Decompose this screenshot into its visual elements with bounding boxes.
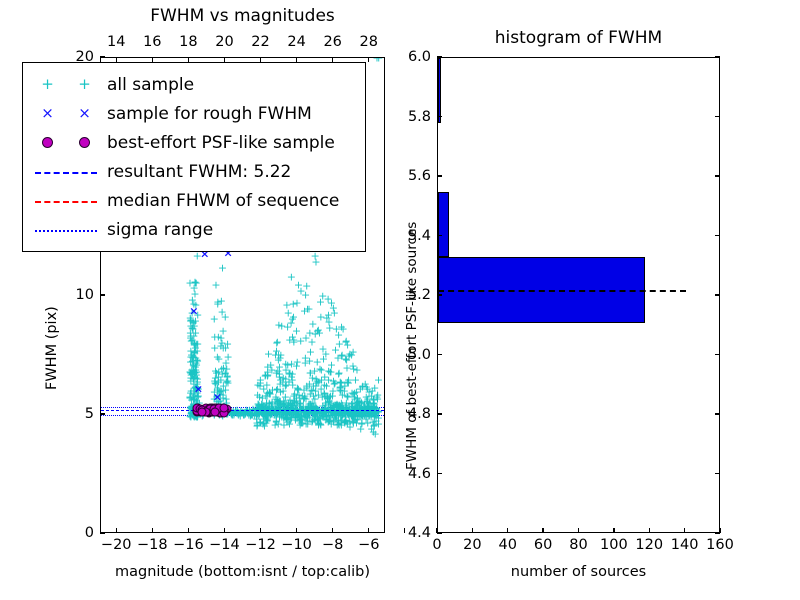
scatter-point-all-sample: + bbox=[188, 334, 197, 345]
scatter-point-psf-like bbox=[214, 404, 223, 413]
x-ticklabel-top: 16 bbox=[143, 34, 161, 50]
scatter-point-all-sample: + bbox=[190, 289, 199, 300]
scatter-point-all-sample: + bbox=[370, 407, 379, 418]
scatter-point-all-sample: + bbox=[219, 325, 228, 336]
scatter-point-all-sample: + bbox=[365, 407, 374, 418]
scatter-point-all-sample: + bbox=[218, 390, 227, 401]
scatter-point-all-sample: + bbox=[266, 407, 275, 418]
scatter-point-all-sample: + bbox=[217, 307, 226, 318]
scatter-point-all-sample: + bbox=[299, 394, 308, 405]
circle-marker-icon bbox=[79, 137, 90, 148]
scatter-point-all-sample: + bbox=[333, 399, 342, 410]
scatter-point-all-sample: + bbox=[187, 394, 196, 405]
scatter-point-all-sample: + bbox=[185, 366, 194, 377]
scatter-point-all-sample: + bbox=[310, 414, 319, 425]
scatter-point-all-sample: + bbox=[363, 402, 372, 413]
scatter-point-all-sample: + bbox=[261, 371, 270, 382]
scatter-point-all-sample: + bbox=[281, 374, 290, 385]
scatter-point-all-sample: + bbox=[329, 376, 338, 387]
scatter-point-all-sample: + bbox=[263, 361, 272, 372]
scatter-point-all-sample: + bbox=[304, 304, 313, 315]
scatter-point-all-sample: + bbox=[373, 393, 382, 404]
scatter-point-all-sample: + bbox=[311, 256, 320, 267]
hist-y-ticklabel: 5.4 bbox=[389, 228, 431, 244]
x-tick-bottom bbox=[260, 528, 261, 533]
scatter-point-all-sample: + bbox=[228, 407, 237, 418]
scatter-point-all-sample: + bbox=[282, 414, 291, 425]
scatter-point-all-sample: + bbox=[352, 407, 361, 418]
scatter-point-all-sample: + bbox=[189, 359, 198, 370]
scatter-point-all-sample: + bbox=[332, 407, 341, 418]
scatter-point-all-sample: + bbox=[256, 403, 265, 414]
scatter-point-all-sample: + bbox=[185, 278, 194, 289]
scatter-point-all-sample: + bbox=[303, 304, 312, 315]
scatter-point-all-sample: + bbox=[342, 355, 351, 366]
scatter-point-all-sample: + bbox=[310, 394, 319, 405]
scatter-point-all-sample: + bbox=[194, 383, 203, 394]
scatter-point-all-sample: + bbox=[305, 411, 314, 422]
scatter-point-all-sample: + bbox=[230, 407, 239, 418]
scatter-point-all-sample: + bbox=[334, 369, 343, 380]
scatter-point-all-sample: + bbox=[190, 367, 199, 378]
scatter-point-all-sample: + bbox=[288, 368, 297, 379]
scatter-point-all-sample: + bbox=[214, 332, 223, 343]
scatter-point-all-sample: + bbox=[256, 378, 265, 389]
x-ticklabel-bottom: −18 bbox=[137, 537, 168, 553]
scatter-point-all-sample: + bbox=[337, 351, 346, 362]
scatter-point-all-sample: + bbox=[347, 399, 356, 410]
scatter-point-all-sample: + bbox=[283, 360, 292, 371]
scatter-point-all-sample: + bbox=[326, 390, 335, 401]
scatter-point-all-sample: + bbox=[344, 351, 353, 362]
scatter-point-all-sample: + bbox=[192, 354, 201, 365]
scatter-point-all-sample: + bbox=[253, 420, 262, 431]
scatter-point-all-sample: + bbox=[361, 406, 370, 417]
scatter-point-all-sample: + bbox=[316, 419, 325, 430]
scatter-point-all-sample: + bbox=[219, 343, 228, 354]
scatter-point-all-sample: + bbox=[281, 381, 290, 392]
scatter-point-all-sample: + bbox=[319, 387, 328, 398]
scatter-point-all-sample: + bbox=[340, 417, 349, 428]
scatter-point-all-sample: + bbox=[193, 411, 202, 422]
scatter-point-all-sample: + bbox=[190, 372, 199, 383]
scatter-point-all-sample: + bbox=[220, 407, 229, 418]
left-panel-title: FWHM vs magnitudes bbox=[100, 6, 385, 26]
scatter-point-all-sample: + bbox=[343, 407, 352, 418]
scatter-point-all-sample: + bbox=[324, 407, 333, 418]
legend-handle: ++ bbox=[29, 75, 103, 95]
scatter-point-all-sample: + bbox=[276, 399, 285, 410]
scatter-point-all-sample: + bbox=[295, 416, 304, 427]
scatter-point-all-sample: + bbox=[216, 388, 225, 399]
x-tick-bottom bbox=[368, 528, 369, 533]
scatter-point-all-sample: + bbox=[291, 415, 300, 426]
scatter-point-all-sample: + bbox=[325, 414, 334, 425]
y-tick-left bbox=[100, 56, 105, 57]
hist-y-tick bbox=[437, 413, 442, 414]
scatter-point-all-sample: + bbox=[275, 411, 284, 422]
scatter-point-all-sample: + bbox=[333, 407, 342, 418]
scatter-point-all-sample: + bbox=[254, 398, 263, 409]
scatter-point-all-sample: + bbox=[191, 300, 200, 311]
scatter-point-all-sample: + bbox=[266, 407, 275, 418]
scatter-point-all-sample: + bbox=[371, 410, 380, 421]
scatter-point-all-sample: + bbox=[189, 394, 198, 405]
scatter-point-all-sample: + bbox=[363, 383, 372, 394]
scatter-point-all-sample: + bbox=[364, 407, 373, 418]
scatter-point-all-sample: + bbox=[340, 381, 349, 392]
scatter-point-all-sample: + bbox=[293, 356, 302, 367]
scatter-point-all-sample: + bbox=[186, 402, 195, 413]
scatter-point-all-sample: + bbox=[192, 411, 201, 422]
scatter-point-all-sample: + bbox=[327, 406, 336, 417]
scatter-point-all-sample: + bbox=[193, 356, 202, 367]
scatter-point-all-sample: + bbox=[350, 388, 359, 399]
scatter-point-all-sample: + bbox=[287, 399, 296, 410]
scatter-point-all-sample: + bbox=[186, 346, 195, 357]
scatter-point-all-sample: + bbox=[212, 407, 221, 418]
scatter-point-all-sample: + bbox=[307, 417, 316, 428]
scatter-point-all-sample: + bbox=[349, 411, 358, 422]
scatter-point-all-sample: + bbox=[307, 407, 316, 418]
scatter-point-all-sample: + bbox=[334, 416, 343, 427]
scatter-point-all-sample: + bbox=[211, 279, 220, 290]
scatter-point-all-sample: + bbox=[192, 411, 201, 422]
scatter-point-all-sample: + bbox=[325, 415, 334, 426]
scatter-point-all-sample: + bbox=[221, 393, 230, 404]
scatter-point-all-sample: + bbox=[245, 406, 254, 417]
scatter-point-all-sample: + bbox=[302, 412, 311, 423]
scatter-point-all-sample: + bbox=[213, 385, 222, 396]
scatter-point-all-sample: + bbox=[363, 393, 372, 404]
scatter-point-all-sample: + bbox=[261, 370, 270, 381]
scatter-point-all-sample: + bbox=[198, 410, 207, 421]
sigma-range-upper-line bbox=[101, 407, 384, 408]
scatter-point-all-sample: + bbox=[263, 367, 272, 378]
scatter-point-all-sample: + bbox=[323, 394, 332, 405]
hist-y-ticklabel: 5.2 bbox=[389, 287, 431, 303]
scatter-point-psf-like bbox=[201, 404, 210, 413]
scatter-point-all-sample: + bbox=[191, 381, 200, 392]
scatter-point-all-sample: + bbox=[304, 399, 313, 410]
scatter-point-all-sample: + bbox=[313, 357, 322, 368]
scatter-point-all-sample: + bbox=[336, 411, 345, 422]
hist-x-tick bbox=[613, 528, 614, 533]
scatter-point-all-sample: + bbox=[190, 321, 199, 332]
scatter-point-all-sample: + bbox=[282, 406, 291, 417]
scatter-point-all-sample: + bbox=[193, 376, 202, 387]
scatter-point-all-sample: + bbox=[334, 402, 343, 413]
scatter-point-all-sample: + bbox=[286, 414, 295, 425]
scatter-point-all-sample: + bbox=[197, 403, 206, 414]
scatter-point-all-sample: + bbox=[363, 396, 372, 407]
scatter-point-all-sample: + bbox=[192, 379, 201, 390]
scatter-point-all-sample: + bbox=[271, 419, 280, 430]
scatter-point-all-sample: + bbox=[252, 418, 261, 429]
scatter-point-all-sample: + bbox=[316, 311, 325, 322]
scatter-point-all-sample: + bbox=[222, 406, 231, 417]
scatter-point-all-sample: + bbox=[298, 391, 307, 402]
scatter-point-all-sample: + bbox=[297, 417, 306, 428]
hist-x-tick bbox=[542, 528, 543, 533]
scatter-point-all-sample: + bbox=[318, 291, 327, 302]
scatter-point-all-sample: + bbox=[263, 391, 272, 402]
scatter-point-all-sample: + bbox=[322, 411, 331, 422]
scatter-point-all-sample: + bbox=[316, 418, 325, 429]
scatter-point-all-sample: + bbox=[189, 337, 198, 348]
scatter-point-all-sample: + bbox=[190, 410, 199, 421]
scatter-point-all-sample: + bbox=[343, 376, 352, 387]
scatter-point-all-sample: + bbox=[191, 352, 200, 363]
scatter-point-all-sample: + bbox=[216, 375, 225, 386]
scatter-point-all-sample: + bbox=[297, 411, 306, 422]
scatter-point-all-sample: + bbox=[370, 383, 379, 394]
scatter-point-all-sample: + bbox=[300, 390, 309, 401]
scatter-point-all-sample: + bbox=[369, 399, 378, 410]
scatter-point-all-sample: + bbox=[372, 58, 381, 64]
scatter-point-all-sample: + bbox=[185, 411, 194, 422]
scatter-point-all-sample: + bbox=[276, 386, 285, 397]
scatter-point-all-sample: + bbox=[222, 363, 231, 374]
scatter-point-all-sample: + bbox=[311, 329, 320, 340]
scatter-point-all-sample: + bbox=[204, 406, 213, 417]
histogram-plot-area bbox=[438, 58, 719, 532]
scatter-point-all-sample: + bbox=[294, 384, 303, 395]
x-ticklabel-bottom: −16 bbox=[173, 537, 204, 553]
scatter-point-all-sample: + bbox=[292, 325, 301, 336]
x-ticklabel-top: 26 bbox=[323, 34, 341, 50]
hist-x-ticklabel: 140 bbox=[671, 537, 699, 553]
scatter-point-all-sample: + bbox=[289, 312, 298, 323]
scatter-point-all-sample: + bbox=[278, 399, 287, 410]
scatter-point-all-sample: + bbox=[190, 346, 199, 357]
scatter-point-psf-like bbox=[210, 404, 219, 413]
scatter-point-all-sample: + bbox=[355, 395, 364, 406]
hist-x-ticklabel: 120 bbox=[635, 537, 663, 553]
scatter-point-all-sample: + bbox=[212, 391, 221, 402]
scatter-point-all-sample: + bbox=[314, 419, 323, 430]
circle-marker-icon bbox=[42, 137, 53, 148]
scatter-point-all-sample: + bbox=[256, 417, 265, 428]
scatter-point-all-sample: + bbox=[341, 415, 350, 426]
hist-y-tick-right bbox=[715, 413, 720, 414]
scatter-point-all-sample: + bbox=[356, 384, 365, 395]
scatter-point-psf-like bbox=[206, 404, 215, 413]
scatter-point-all-sample: + bbox=[345, 416, 354, 427]
scatter-point-all-sample: + bbox=[307, 336, 316, 347]
scatter-point-all-sample: + bbox=[362, 392, 371, 403]
scatter-point-all-sample: + bbox=[341, 414, 350, 425]
histogram-bar bbox=[438, 58, 441, 123]
scatter-point-all-sample: + bbox=[188, 317, 197, 328]
scatter-point-all-sample: + bbox=[371, 429, 380, 440]
scatter-point-all-sample: + bbox=[261, 403, 270, 414]
scatter-point-all-sample: + bbox=[222, 377, 231, 388]
scatter-point-all-sample: + bbox=[285, 367, 294, 378]
scatter-point-all-sample: + bbox=[313, 415, 322, 426]
scatter-point-all-sample: + bbox=[193, 403, 202, 414]
scatter-point-all-sample: + bbox=[192, 360, 201, 371]
dashed-line-icon bbox=[35, 201, 97, 203]
scatter-point-all-sample: + bbox=[364, 410, 373, 421]
scatter-point-all-sample: + bbox=[360, 403, 369, 414]
scatter-point-all-sample: + bbox=[190, 345, 199, 356]
x-ticklabel-bottom: −20 bbox=[101, 537, 132, 553]
scatter-point-all-sample: + bbox=[344, 377, 353, 388]
scatter-point-all-sample: + bbox=[189, 411, 198, 422]
scatter-point-all-sample: + bbox=[271, 392, 280, 403]
scatter-point-all-sample: + bbox=[193, 346, 202, 357]
scatter-point-all-sample: + bbox=[188, 368, 197, 379]
scatter-point-all-sample: + bbox=[330, 406, 339, 417]
scatter-point-all-sample: + bbox=[332, 403, 341, 414]
scatter-point-all-sample: + bbox=[363, 418, 372, 429]
scatter-point-all-sample: + bbox=[217, 407, 226, 418]
scatter-point-all-sample: + bbox=[337, 403, 346, 414]
scatter-point-all-sample: + bbox=[265, 386, 274, 397]
scatter-point-all-sample: + bbox=[334, 418, 343, 429]
scatter-point-all-sample: + bbox=[332, 399, 341, 410]
scatter-point-all-sample: + bbox=[300, 407, 309, 418]
scatter-point-all-sample: + bbox=[345, 348, 354, 359]
scatter-point-all-sample: + bbox=[335, 384, 344, 395]
scatter-point-all-sample: + bbox=[210, 387, 219, 398]
scatter-point-all-sample: + bbox=[268, 406, 277, 417]
scatter-point-all-sample: + bbox=[281, 392, 290, 403]
scatter-point-all-sample: + bbox=[275, 368, 284, 379]
scatter-point-all-sample: + bbox=[186, 331, 195, 342]
scatter-point-all-sample: + bbox=[328, 385, 337, 396]
scatter-point-all-sample: + bbox=[295, 393, 304, 404]
cross-marker-icon: × bbox=[41, 106, 54, 121]
scatter-point-all-sample: + bbox=[369, 426, 378, 437]
scatter-point-all-sample: + bbox=[324, 407, 333, 418]
scatter-point-all-sample: + bbox=[189, 299, 198, 310]
scatter-point-all-sample: + bbox=[289, 391, 298, 402]
scatter-point-all-sample: + bbox=[337, 410, 346, 421]
scatter-point-all-sample: + bbox=[187, 402, 196, 413]
scatter-point-all-sample: + bbox=[273, 366, 282, 377]
x-tick-bottom bbox=[224, 528, 225, 533]
hist-x-tick bbox=[649, 528, 650, 533]
scatter-point-all-sample: + bbox=[284, 308, 293, 319]
hist-x-tick bbox=[684, 528, 685, 533]
scatter-point-rough-fwhm: × bbox=[194, 383, 203, 394]
scatter-point-all-sample: + bbox=[188, 369, 197, 380]
scatter-point-all-sample: + bbox=[313, 406, 322, 417]
right-panel-title: histogram of FWHM bbox=[437, 28, 720, 48]
hist-y-tick-right bbox=[715, 294, 720, 295]
scatter-point-all-sample: + bbox=[272, 385, 281, 396]
scatter-point-all-sample: + bbox=[332, 410, 341, 421]
scatter-point-all-sample: + bbox=[291, 407, 300, 418]
scatter-point-all-sample: + bbox=[301, 411, 310, 422]
scatter-point-all-sample: + bbox=[305, 328, 314, 339]
scatter-point-all-sample: + bbox=[262, 415, 271, 426]
scatter-point-all-sample: + bbox=[214, 372, 223, 383]
legend-label: median FHWM of sequence bbox=[103, 191, 339, 211]
scatter-point-all-sample: + bbox=[187, 385, 196, 396]
dashed-line-icon bbox=[35, 172, 97, 174]
scatter-point-all-sample: + bbox=[186, 333, 195, 344]
scatter-point-all-sample: + bbox=[188, 324, 197, 335]
scatter-point-all-sample: + bbox=[275, 411, 284, 422]
hist-y-tick bbox=[437, 116, 442, 117]
scatter-point-all-sample: + bbox=[322, 312, 331, 323]
scatter-point-all-sample: + bbox=[349, 411, 358, 422]
scatter-point-all-sample: + bbox=[352, 386, 361, 397]
scatter-point-all-sample: + bbox=[368, 385, 377, 396]
scatter-point-all-sample: + bbox=[309, 403, 318, 414]
scatter-point-all-sample: + bbox=[285, 418, 294, 429]
scatter-point-all-sample: + bbox=[290, 388, 299, 399]
scatter-point-all-sample: + bbox=[335, 399, 344, 410]
hist-y-tick bbox=[437, 56, 442, 57]
scatter-point-all-sample: + bbox=[252, 402, 261, 413]
scatter-point-all-sample: + bbox=[214, 366, 223, 377]
scatter-point-all-sample: + bbox=[323, 293, 332, 304]
scatter-point-all-sample: + bbox=[190, 412, 199, 423]
scatter-point-all-sample: + bbox=[330, 378, 339, 389]
scatter-point-all-sample: + bbox=[347, 407, 356, 418]
scatter-point-all-sample: + bbox=[323, 391, 332, 402]
scatter-point-all-sample: + bbox=[296, 286, 305, 297]
hist-x-ticklabel: 100 bbox=[600, 537, 628, 553]
scatter-point-all-sample: + bbox=[190, 340, 199, 351]
scatter-point-all-sample: + bbox=[193, 403, 202, 414]
scatter-point-all-sample: + bbox=[186, 412, 195, 423]
scatter-point-all-sample: + bbox=[303, 419, 312, 430]
scatter-point-all-sample: + bbox=[187, 407, 196, 418]
scatter-point-all-sample: + bbox=[293, 382, 302, 393]
scatter-point-all-sample: + bbox=[192, 381, 201, 392]
scatter-point-all-sample: + bbox=[188, 324, 197, 335]
scatter-point-all-sample: + bbox=[282, 380, 291, 391]
scatter-point-all-sample: + bbox=[274, 355, 283, 366]
scatter-point-all-sample: + bbox=[260, 420, 269, 431]
scatter-point-all-sample: + bbox=[218, 369, 227, 380]
scatter-point-all-sample: + bbox=[318, 407, 327, 418]
histogram-bar bbox=[438, 192, 449, 257]
scatter-point-all-sample: + bbox=[286, 403, 295, 414]
scatter-point-all-sample: + bbox=[321, 414, 330, 425]
scatter-point-all-sample: + bbox=[275, 396, 284, 407]
scatter-point-all-sample: + bbox=[255, 407, 264, 418]
dashdot-line-icon bbox=[35, 230, 97, 232]
scatter-point-all-sample: + bbox=[278, 376, 287, 387]
scatter-point-all-sample: + bbox=[274, 418, 283, 429]
hist-y-tick-right bbox=[715, 56, 720, 57]
scatter-point-all-sample: + bbox=[210, 342, 219, 353]
scatter-point-all-sample: + bbox=[259, 383, 268, 394]
scatter-point-all-sample: + bbox=[266, 388, 275, 399]
scatter-point-all-sample: + bbox=[358, 381, 367, 392]
scatter-point-all-sample: + bbox=[265, 407, 274, 418]
scatter-point-all-sample: + bbox=[207, 407, 216, 418]
scatter-point-all-sample: + bbox=[191, 358, 200, 369]
scatter-point-all-sample: + bbox=[273, 384, 282, 395]
scatter-point-all-sample: + bbox=[207, 407, 216, 418]
y-tick-left bbox=[100, 294, 105, 295]
scatter-point-all-sample: + bbox=[356, 412, 365, 423]
x-ticklabel-bottom: −12 bbox=[245, 537, 276, 553]
scatter-point-all-sample: + bbox=[335, 367, 344, 378]
scatter-point-all-sample: + bbox=[339, 324, 348, 335]
scatter-point-all-sample: + bbox=[355, 403, 364, 414]
scatter-point-all-sample: + bbox=[320, 388, 329, 399]
scatter-point-all-sample: + bbox=[188, 365, 197, 376]
scatter-point-all-sample: + bbox=[215, 407, 224, 418]
